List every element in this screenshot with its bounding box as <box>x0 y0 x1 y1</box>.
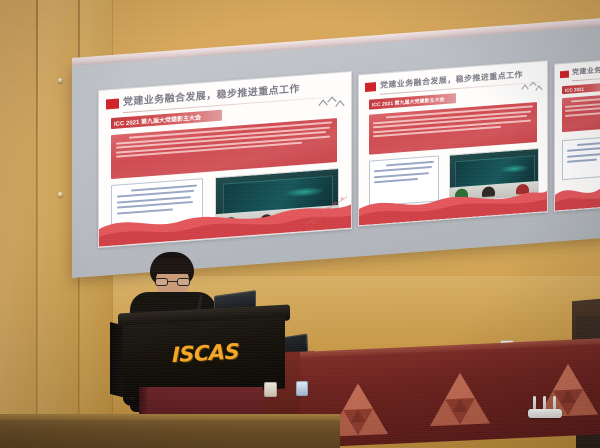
slide-mid-red-textblock <box>369 102 537 155</box>
slide-main: 党建业务融合发展，稳步推进重点工作 ICC 2021 第九届大党建影主大会 <box>98 71 352 248</box>
text-line <box>567 159 597 163</box>
floor-outlet <box>264 382 277 397</box>
wall-plank-1 <box>0 0 37 448</box>
slide-main-canvas: 党建业务融合发展，稳步推进重点工作 ICC 2021 第九届大党建影主大会 <box>99 72 351 247</box>
projection-screen: 党建业务融合发展，稳步推进重点工作 ICC 2021 第九届大党建影主大会 <box>72 26 600 278</box>
text-line <box>565 112 600 117</box>
text-line <box>567 152 600 157</box>
slide-right-red-textblock <box>562 94 600 132</box>
text-line <box>374 172 429 178</box>
presenter-fringe <box>151 258 193 274</box>
glasses-icon <box>155 278 190 286</box>
text-line <box>571 97 600 102</box>
network-jack <box>296 381 308 396</box>
floor <box>0 420 340 448</box>
slide-right-badge: ICC 2021 <box>562 82 600 94</box>
slide-mid: 党建业务融合发展，稳步推进重点工作 ICC 2021 第九届大党建影主大会 <box>358 60 548 226</box>
slide-right-title: 党建业务融合发展 <box>572 64 600 77</box>
birds-decor-icon <box>317 94 347 112</box>
cpc-emblem-icon <box>365 82 376 92</box>
wall-screw-icon <box>58 192 63 197</box>
wifi-router <box>528 396 562 418</box>
wall-seam-1 <box>36 0 38 448</box>
slide-mid-badge: ICC 2021 第九届大党建影主大会 <box>369 93 456 110</box>
router-antenna <box>533 396 536 410</box>
text-line <box>567 147 600 152</box>
slide-mid-canvas: 党建业务融合发展，稳步推进重点工作 ICC 2021 第九届大党建影主大会 <box>359 61 547 225</box>
router-body <box>528 409 562 418</box>
slide-right-canvas: 党建业务融合发展 ICC 2021 <box>555 59 600 210</box>
cpc-emblem-icon <box>106 98 119 109</box>
sierpinski-triangle-panel <box>428 369 492 428</box>
text-line <box>386 161 434 167</box>
router-antenna <box>543 396 546 410</box>
conference-hall-photo: 党建业务融合发展，稳步推进重点工作 ICC 2021 第九届大党建影主大会 <box>0 0 600 448</box>
title-underline <box>572 77 600 82</box>
text-line <box>565 102 600 108</box>
router-antenna <box>553 396 556 410</box>
ink-plum-decor <box>301 192 349 230</box>
cpc-emblem-icon <box>560 71 569 79</box>
text-line <box>577 141 600 146</box>
text-line <box>565 107 600 113</box>
slide-right: 党建业务融合发展 ICC 2021 <box>554 58 600 211</box>
slide-right-wave-decor <box>555 167 600 210</box>
wall-screw-icon <box>58 78 63 83</box>
birds-decor-icon <box>521 79 545 94</box>
